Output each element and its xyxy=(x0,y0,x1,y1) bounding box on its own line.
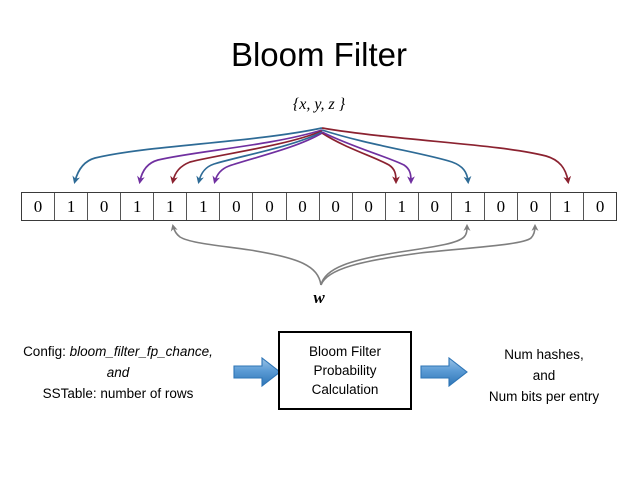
page-title: Bloom Filter xyxy=(0,36,638,74)
hash-curve-group-right xyxy=(322,128,568,181)
config-param: bloom_filter_fp_chance, xyxy=(70,344,213,359)
bit-cell: 1 xyxy=(386,193,419,220)
config-prefix: Config: xyxy=(23,344,70,359)
bit-cell: 1 xyxy=(187,193,220,220)
bit-cell: 0 xyxy=(220,193,253,220)
bit-cell: 0 xyxy=(88,193,121,220)
bloom-filter-bit-array: 0 1 0 1 1 1 0 0 0 0 0 1 0 1 0 0 1 0 xyxy=(21,192,617,221)
calc-box-line-3: Calculation xyxy=(312,380,379,399)
output-line-2: and xyxy=(533,368,556,383)
bit-cell: 0 xyxy=(320,193,353,220)
bit-cell: 1 xyxy=(551,193,584,220)
bit-cell: 0 xyxy=(518,193,551,220)
block-arrow-config-to-calc xyxy=(234,358,280,386)
width-label: w xyxy=(0,288,638,308)
element-set-label: {x, y, z } xyxy=(0,96,638,114)
config-sstable-line: SSTable: number of rows xyxy=(43,386,194,401)
width-brace-curves xyxy=(173,226,535,285)
output-line-3: Num bits per entry xyxy=(489,389,599,404)
config-conjunction: and xyxy=(107,365,130,380)
bit-cell: 1 xyxy=(121,193,154,220)
bit-cell: 0 xyxy=(485,193,518,220)
bit-cell: 1 xyxy=(154,193,187,220)
output-line-1: Num hashes, xyxy=(504,347,584,362)
bit-cell: 1 xyxy=(55,193,88,220)
bit-cell: 0 xyxy=(253,193,286,220)
bloom-filter-probability-calculation-box: Bloom Filter Probability Calculation xyxy=(278,331,412,410)
bit-cell: 0 xyxy=(22,193,55,220)
bit-cell: 1 xyxy=(452,193,485,220)
bit-cell: 0 xyxy=(353,193,386,220)
bit-cell: 0 xyxy=(287,193,320,220)
output-result-text: Num hashes, and Num bits per entry xyxy=(452,344,636,407)
config-input-text: Config: bloom_filter_fp_chance, and SSTa… xyxy=(4,341,232,404)
calc-box-line-1: Bloom Filter xyxy=(309,342,381,361)
hash-curve-group-left xyxy=(75,128,322,181)
bit-cell: 0 xyxy=(584,193,616,220)
calc-box-line-2: Probability xyxy=(313,361,376,380)
bit-cell: 0 xyxy=(419,193,452,220)
slide-canvas: Bloom Filter {x, y, z } 0 1 0 1 1 1 0 0 … xyxy=(0,0,638,479)
